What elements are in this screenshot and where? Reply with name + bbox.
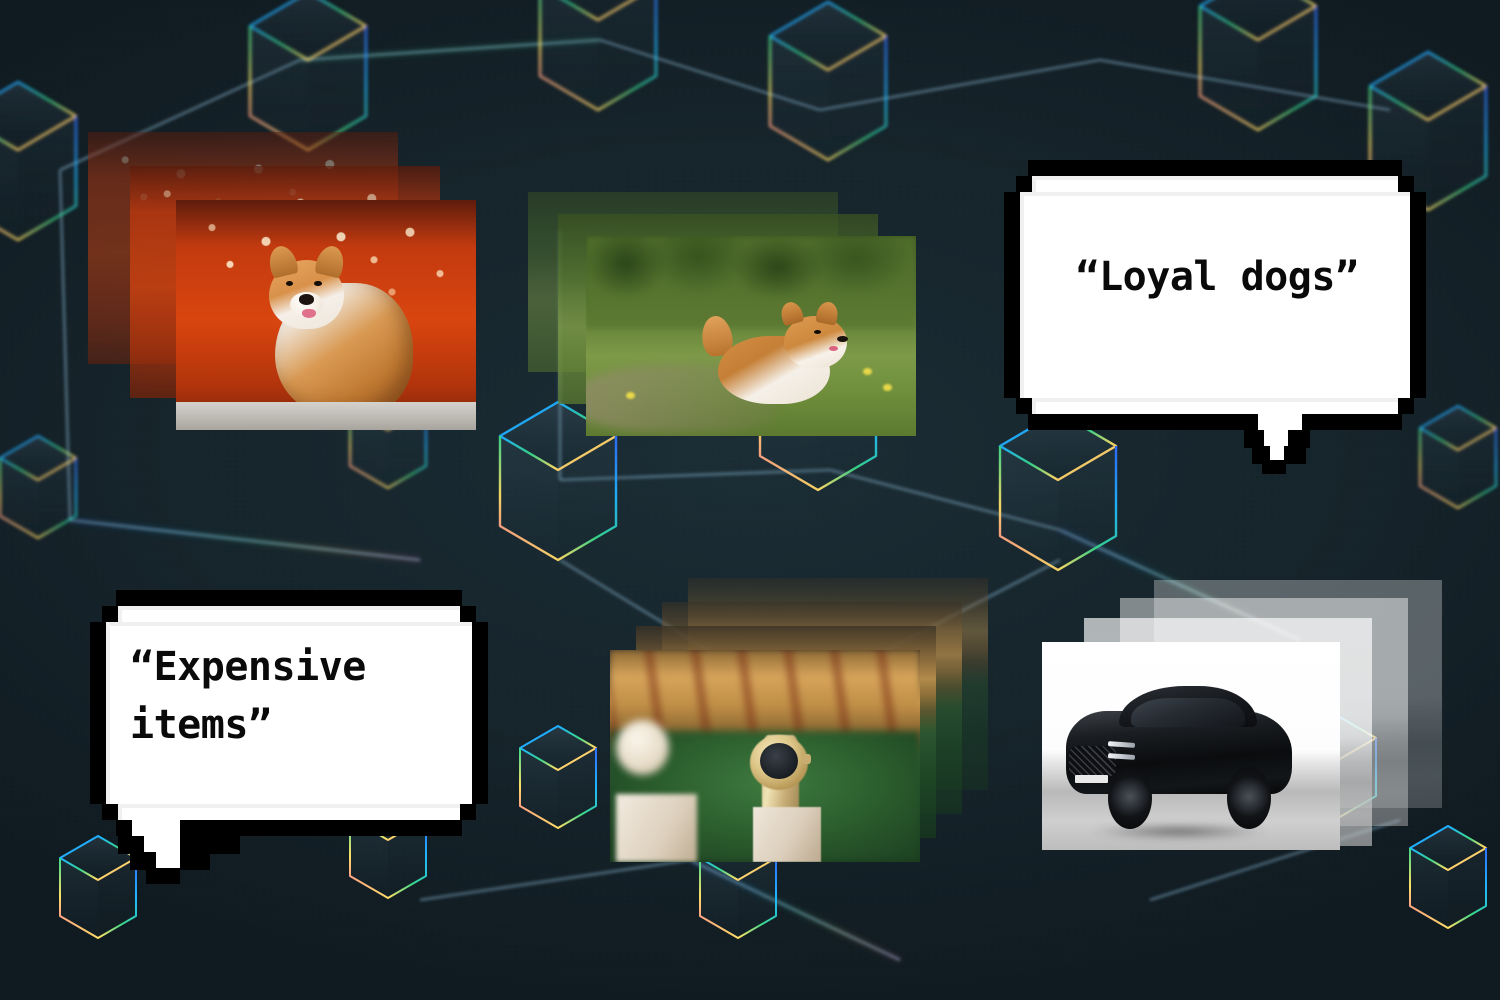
- stone-ledge: [176, 402, 476, 430]
- corgi-eye: [814, 330, 821, 334]
- bubble-corner-br-a: [460, 804, 476, 820]
- bubble-expensive-items[interactable]: “Expensive items”: [88, 580, 508, 890]
- bubble-border-bottom-right: [1302, 414, 1402, 430]
- watch-crown: [802, 754, 811, 765]
- bubble-corner-bl-a: [102, 804, 118, 820]
- bubble-corner-br-a: [1398, 398, 1414, 414]
- bubble-face-top: [1032, 176, 1398, 192]
- flower: [863, 368, 872, 375]
- bubble-border-top: [116, 590, 462, 606]
- bubble-corner-tl-a: [102, 606, 118, 622]
- second-watch-blur: [616, 720, 669, 775]
- flower: [626, 392, 635, 399]
- bubble-tail-edge-5: [180, 852, 210, 870]
- bubble-border-right: [472, 622, 488, 804]
- watch-dial: [760, 743, 797, 779]
- stack-layer-front: [176, 200, 476, 430]
- car-grille: [1069, 746, 1117, 777]
- bubble-face-bottom: [1032, 398, 1398, 414]
- bubble-border-top: [1028, 160, 1402, 176]
- bubble-border-left: [90, 622, 106, 804]
- concept-scene: Corgi sitting in front of orange wall wi…: [0, 0, 1500, 1000]
- image-stack-luxury-watch[interactable]: Gold and steel luxury wristwatch on a di…: [610, 578, 1000, 868]
- flower: [883, 384, 892, 391]
- stack-layer-front: [1042, 642, 1340, 850]
- car-windows: [1131, 698, 1244, 727]
- bubble-corner-tr-a: [460, 606, 476, 622]
- bubble-corner-tr-a: [1398, 176, 1414, 192]
- bubble-loyal-dogs[interactable]: “Loyal dogs”: [1012, 150, 1432, 460]
- bubble-face-top: [118, 606, 460, 622]
- display-plinth-left: [616, 794, 697, 862]
- bubble-corner-tl-a: [1016, 176, 1032, 192]
- image-stack-corgi-running[interactable]: Corgi running across a green meadow path: [528, 192, 928, 442]
- image-stack-luxury-car[interactable]: Black luxury SUV on a white studio backg…: [1042, 580, 1442, 870]
- tree-line: [586, 236, 916, 328]
- bubble-border-bottom-a: [116, 820, 132, 836]
- stack-layer-front: [586, 236, 916, 436]
- bubble-tail-tip: [1262, 460, 1286, 474]
- bubble-label: “Loyal dogs”: [1052, 248, 1382, 306]
- wheel-front: [1108, 767, 1153, 829]
- wheel-rear: [1227, 767, 1272, 829]
- corgi-ear-left: [266, 243, 299, 279]
- bubble-tail-edge-3: [146, 868, 180, 884]
- corgi-nose: [299, 294, 314, 304]
- bubble-border-bottom-left: [1028, 414, 1258, 430]
- corgi-eye-right: [314, 281, 322, 287]
- image-stack-caption: Gold and steel luxury wristwatch on a di…: [610, 578, 611, 579]
- bubble-border-right: [1410, 192, 1426, 398]
- bubble-border-bottom: [180, 820, 462, 836]
- bubble-border-left: [1004, 192, 1020, 398]
- bubble-tail-edge-4: [1284, 446, 1306, 464]
- display-plinth: [753, 807, 821, 862]
- corgi-ear-right: [314, 243, 347, 278]
- image-stack-corgi-portrait[interactable]: Corgi sitting in front of orange wall wi…: [88, 132, 478, 432]
- stack-layer-front: [610, 650, 920, 862]
- car-shadow: [1060, 821, 1298, 842]
- bubble-label: “Expensive items”: [130, 638, 460, 754]
- bubble-face-bottom: [118, 804, 460, 820]
- license-plate: [1075, 775, 1108, 783]
- bubble-corner-bl-a: [1016, 398, 1032, 414]
- image-stack-caption: Black luxury SUV on a white studio backg…: [1042, 580, 1043, 581]
